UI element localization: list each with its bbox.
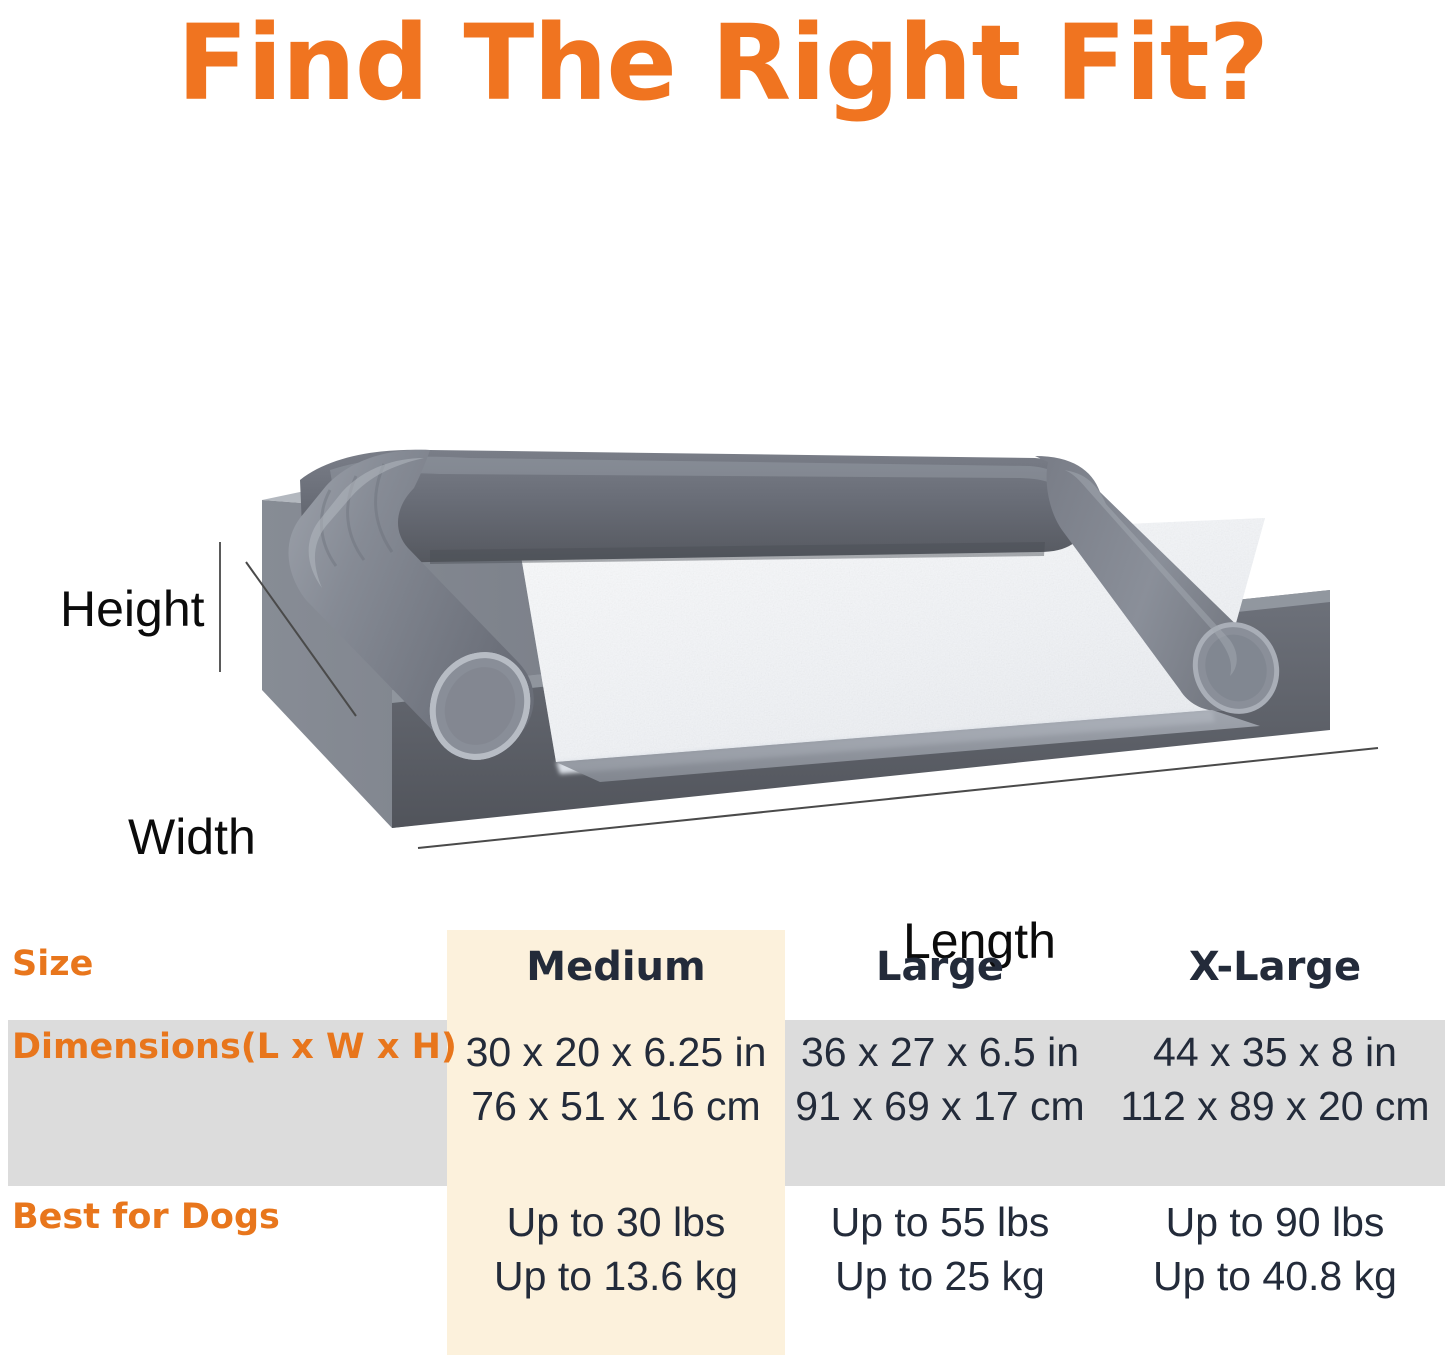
column-header-xlarge: X-Large: [1120, 942, 1430, 992]
weight-xlarge-lbs: Up to 90 lbs: [1120, 1195, 1430, 1249]
weight-medium-lbs: Up to 30 lbs: [447, 1195, 785, 1249]
row-header-best-for-dogs: Best for Dogs: [12, 1195, 280, 1239]
column-header-large: Large: [790, 942, 1090, 992]
cell-weight-large: Up to 55 lbs Up to 25 kg: [790, 1195, 1090, 1303]
dog-bed-image: [0, 170, 1445, 910]
dimensions-medium-in: 30 x 20 x 6.25 in: [447, 1025, 785, 1079]
dimension-label-width: Width: [128, 808, 256, 866]
cell-dimensions-medium: 30 x 20 x 6.25 in 76 x 51 x 16 cm: [447, 1025, 785, 1133]
height-leader-line: [219, 542, 221, 672]
cell-size-medium: Medium: [447, 942, 785, 992]
table-row-size: Size Medium Large X-Large: [0, 942, 1445, 1012]
cell-weight-medium: Up to 30 lbs Up to 13.6 kg: [447, 1195, 785, 1303]
dimensions-medium-cm: 76 x 51 x 16 cm: [447, 1079, 785, 1133]
row-header-size: Size: [12, 942, 93, 986]
cell-dimensions-xlarge: 44 x 35 x 8 in 112 x 89 x 20 cm: [1120, 1025, 1430, 1133]
table-row-best-for-dogs: Best for Dogs Up to 30 lbs Up to 13.6 kg…: [0, 1195, 1445, 1345]
weight-xlarge-kg: Up to 40.8 kg: [1120, 1249, 1430, 1303]
table-row-dimensions: Dimensions(L x W x H) 30 x 20 x 6.25 in …: [0, 1025, 1445, 1185]
dimensions-large-cm: 91 x 69 x 17 cm: [790, 1079, 1090, 1133]
dimension-label-height: Height: [60, 580, 205, 638]
dimensions-large-in: 36 x 27 x 6.5 in: [790, 1025, 1090, 1079]
row-header-dimensions: Dimensions(L x W x H): [12, 1025, 457, 1069]
dimensions-xlarge-in: 44 x 35 x 8 in: [1120, 1025, 1430, 1079]
weight-large-lbs: Up to 55 lbs: [790, 1195, 1090, 1249]
weight-medium-kg: Up to 13.6 kg: [447, 1249, 785, 1303]
cell-dimensions-large: 36 x 27 x 6.5 in 91 x 69 x 17 cm: [790, 1025, 1090, 1133]
cell-weight-xlarge: Up to 90 lbs Up to 40.8 kg: [1120, 1195, 1430, 1303]
size-guide-page: Find The Right Fit?: [0, 0, 1445, 1355]
cell-size-xlarge: X-Large: [1120, 942, 1430, 992]
dimensions-xlarge-cm: 112 x 89 x 20 cm: [1120, 1079, 1430, 1133]
size-chart-table: Size Medium Large X-Large Dimensions(L x…: [0, 910, 1445, 1355]
weight-large-kg: Up to 25 kg: [790, 1249, 1090, 1303]
cell-size-large: Large: [790, 942, 1090, 992]
product-illustration: Height Width Length: [0, 170, 1445, 910]
column-header-medium: Medium: [447, 942, 785, 992]
page-title: Find The Right Fit?: [0, 4, 1445, 122]
